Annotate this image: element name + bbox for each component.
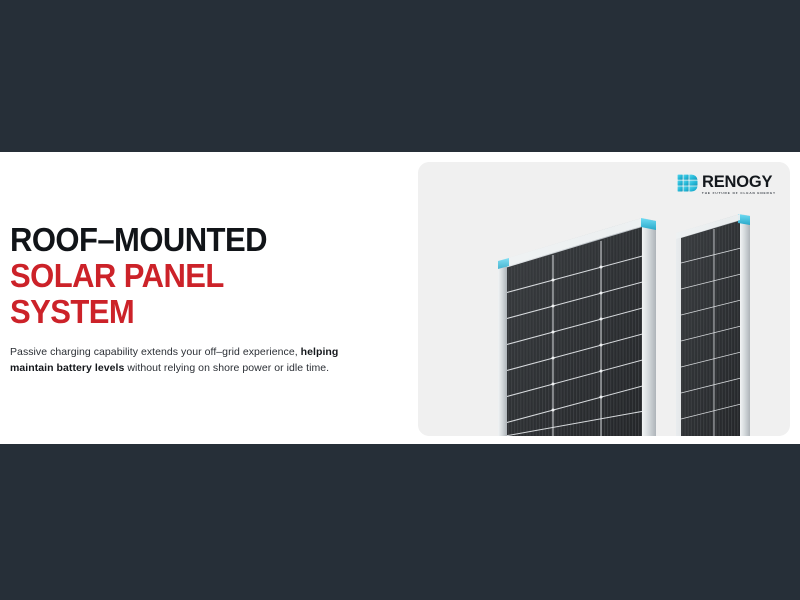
body-text-a: Passive charging capability extends your… [10, 346, 301, 358]
body-text-bold-1: helping [301, 346, 339, 358]
renogy-grid-mark-icon [677, 174, 698, 194]
content-band: ROOF–MOUNTED SOLAR PANEL SYSTEM Passive … [0, 152, 800, 444]
solar-panel-illustration [418, 162, 790, 436]
solar-panel-front [498, 218, 656, 436]
headline-line-3: SYSTEM [10, 294, 377, 330]
renogy-wordmark: RENOGY [702, 173, 774, 190]
body-text-bold-2: maintain battery levels [10, 362, 124, 374]
letterbox-bar-bottom [0, 444, 800, 600]
copy-block: ROOF–MOUNTED SOLAR PANEL SYSTEM Passive … [10, 222, 400, 376]
product-image-card: RENOGY THE FUTURE OF CLEAN ENERGY [418, 162, 790, 436]
letterbox-bar-top [0, 0, 800, 152]
renogy-logo: RENOGY THE FUTURE OF CLEAN ENERGY [677, 173, 776, 195]
renogy-tagline: THE FUTURE OF CLEAN ENERGY [702, 192, 776, 195]
solar-panel-back [676, 214, 750, 436]
headline-line-2: SOLAR PANEL [10, 258, 377, 294]
headline-line-1: ROOF–MOUNTED [10, 222, 377, 258]
body-paragraph: Passive charging capability extends your… [10, 330, 362, 376]
renogy-logo-text: RENOGY THE FUTURE OF CLEAN ENERGY [702, 173, 776, 195]
page-title: ROOF–MOUNTED SOLAR PANEL SYSTEM [10, 222, 377, 330]
body-text-b: without relying on shore power or idle t… [124, 362, 329, 374]
slide-canvas: ROOF–MOUNTED SOLAR PANEL SYSTEM Passive … [0, 0, 800, 600]
